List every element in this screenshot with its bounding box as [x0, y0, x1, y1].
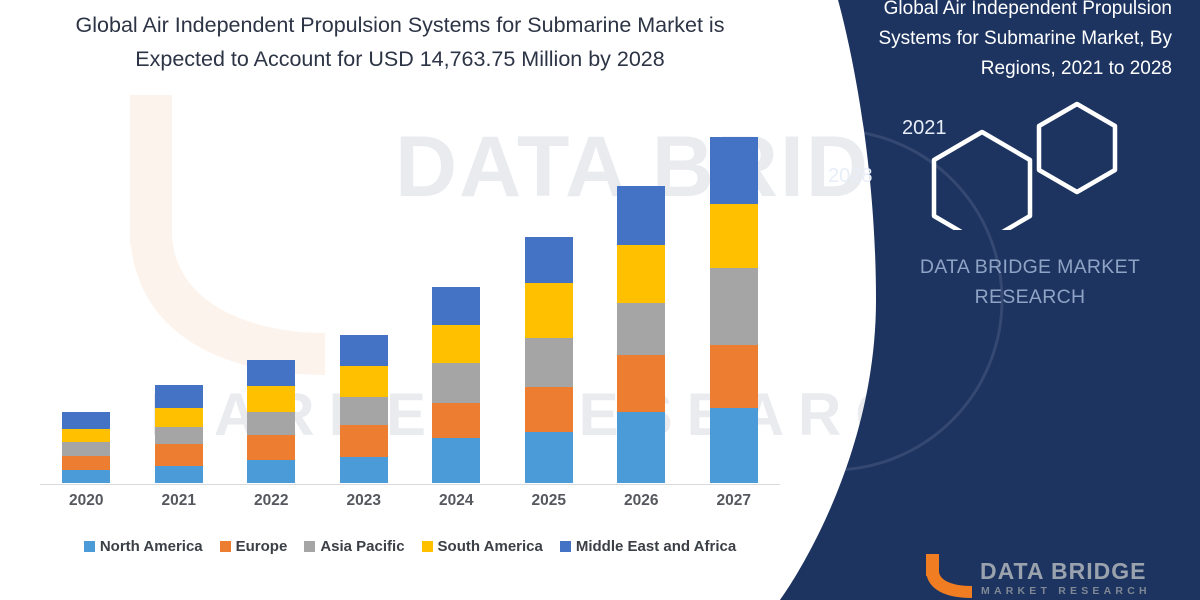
- legend-swatch-icon: [304, 541, 315, 552]
- bar-segment[interactable]: [340, 366, 388, 397]
- bar-segment[interactable]: [617, 245, 665, 303]
- bar-segment[interactable]: [525, 338, 573, 387]
- brand-name-line-2: RESEARCH: [975, 286, 1086, 308]
- company-logo: DATA BRIDGE MARKET RESEARCH: [918, 552, 1168, 600]
- bar-segment[interactable]: [710, 137, 758, 204]
- bar-slot-2020: [40, 120, 133, 483]
- bar-slot-2025: [503, 120, 596, 483]
- stacked-bar[interactable]: [247, 360, 295, 483]
- bar-segment[interactable]: [155, 408, 203, 427]
- bar-segment[interactable]: [710, 345, 758, 408]
- bar-segment[interactable]: [432, 287, 480, 325]
- legend-label: Middle East and Africa: [576, 538, 736, 555]
- logo-wordmark: DATA BRIDGE: [980, 558, 1146, 585]
- stacked-bar[interactable]: [710, 137, 758, 483]
- brand-name-text: DATA BRIDGE MARKET RESEARCH: [885, 252, 1175, 312]
- stacked-bar[interactable]: [340, 335, 388, 483]
- legend-item[interactable]: North America: [84, 538, 203, 555]
- brand-panel-title: Global Air Independent Propulsion System…: [852, 0, 1172, 84]
- x-axis-label-2025: 2025: [503, 492, 596, 510]
- plot-area: [40, 120, 780, 485]
- bar-slot-2021: [133, 120, 226, 483]
- stacked-bar[interactable]: [155, 385, 203, 483]
- bar-segment[interactable]: [62, 456, 110, 470]
- bar-segment[interactable]: [247, 412, 295, 435]
- bar-segment[interactable]: [62, 412, 110, 429]
- x-axis-label-2026: 2026: [595, 492, 688, 510]
- stacked-bar[interactable]: [432, 287, 480, 483]
- logo-tagline: MARKET RESEARCH: [981, 585, 1151, 597]
- brand-name-line-1: DATA BRIDGE MARKET: [920, 256, 1140, 278]
- bar-group: [40, 120, 780, 483]
- bar-segment[interactable]: [247, 435, 295, 460]
- x-axis-label-2024: 2024: [410, 492, 503, 510]
- bar-slot-2026: [595, 120, 688, 483]
- bar-segment[interactable]: [617, 303, 665, 355]
- bar-segment[interactable]: [247, 460, 295, 483]
- legend-label: North America: [100, 538, 203, 555]
- bridge-logo-icon: [918, 552, 974, 598]
- x-axis-labels: 20202021202220232024202520262027: [40, 492, 780, 510]
- brand-panel: Global Air Independent Propulsion System…: [780, 0, 1200, 600]
- bar-segment[interactable]: [432, 325, 480, 363]
- bar-segment[interactable]: [710, 408, 758, 483]
- bar-segment[interactable]: [340, 425, 388, 457]
- legend-label: Asia Pacific: [320, 538, 404, 555]
- bar-segment[interactable]: [525, 237, 573, 283]
- legend-item[interactable]: South America: [422, 538, 543, 555]
- bar-segment[interactable]: [155, 385, 203, 408]
- x-axis-line: [40, 484, 780, 485]
- legend-item[interactable]: Europe: [220, 538, 288, 555]
- infographic-root: DATA BRIDGE MARKET RESEARCH Global Air I…: [0, 0, 1200, 600]
- bar-segment[interactable]: [155, 427, 203, 444]
- bar-segment[interactable]: [432, 363, 480, 403]
- legend-swatch-icon: [220, 541, 231, 552]
- legend-swatch-icon: [422, 541, 433, 552]
- legend-swatch-icon: [84, 541, 95, 552]
- bar-segment[interactable]: [432, 438, 480, 483]
- bar-segment[interactable]: [62, 470, 110, 483]
- bar-segment[interactable]: [340, 457, 388, 483]
- bar-segment[interactable]: [710, 204, 758, 268]
- bar-segment[interactable]: [247, 360, 295, 386]
- stacked-bar[interactable]: [525, 237, 573, 483]
- stacked-bar[interactable]: [62, 412, 110, 483]
- bar-segment[interactable]: [525, 432, 573, 483]
- bar-segment[interactable]: [340, 397, 388, 425]
- x-axis-label-2023: 2023: [318, 492, 411, 510]
- bar-segment[interactable]: [155, 466, 203, 483]
- hex-badge-2021-label: 2021: [902, 117, 947, 140]
- bar-segment[interactable]: [247, 386, 295, 412]
- bar-segment[interactable]: [617, 355, 665, 412]
- x-axis-label-2027: 2027: [688, 492, 781, 510]
- bar-slot-2027: [688, 120, 781, 483]
- x-axis-label-2022: 2022: [225, 492, 318, 510]
- legend-label: South America: [438, 538, 543, 555]
- bar-segment[interactable]: [340, 335, 388, 366]
- bar-segment[interactable]: [432, 403, 480, 438]
- page-title: Global Air Independent Propulsion System…: [60, 8, 740, 76]
- stacked-bar[interactable]: [617, 186, 665, 483]
- bar-slot-2022: [225, 120, 318, 483]
- bar-segment[interactable]: [62, 429, 110, 442]
- bar-segment[interactable]: [62, 442, 110, 456]
- legend-swatch-icon: [560, 541, 571, 552]
- bar-segment[interactable]: [525, 283, 573, 338]
- x-axis-label-2020: 2020: [40, 492, 133, 510]
- bar-slot-2024: [410, 120, 503, 483]
- bar-segment[interactable]: [617, 412, 665, 483]
- chart-panel: DATA BRIDGE MARKET RESEARCH Global Air I…: [0, 0, 900, 600]
- x-axis-label-2021: 2021: [133, 492, 226, 510]
- hex-badge-2028-label: 2028: [828, 165, 873, 188]
- bar-segment[interactable]: [525, 387, 573, 432]
- legend-label: Europe: [236, 538, 288, 555]
- bar-segment[interactable]: [617, 186, 665, 245]
- legend-item[interactable]: Asia Pacific: [304, 538, 404, 555]
- legend-item[interactable]: Middle East and Africa: [560, 538, 736, 555]
- bar-segment[interactable]: [155, 444, 203, 466]
- bar-slot-2023: [318, 120, 411, 483]
- bar-segment[interactable]: [710, 268, 758, 345]
- chart-legend: North AmericaEuropeAsia PacificSouth Ame…: [40, 538, 780, 555]
